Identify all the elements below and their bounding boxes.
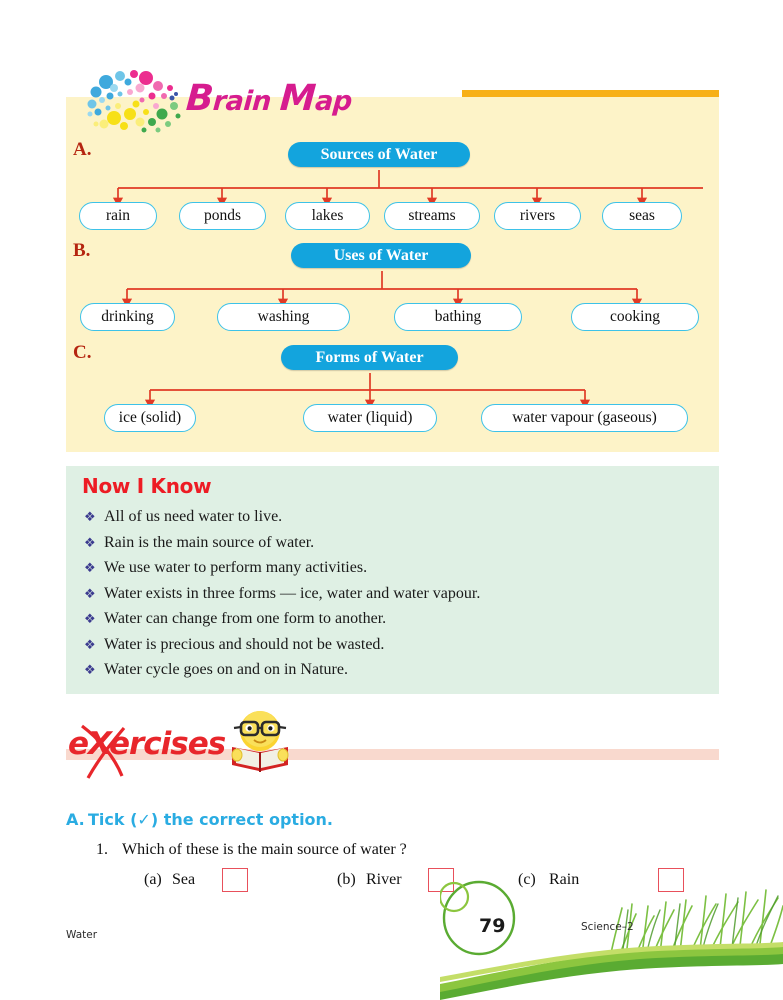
list-item: ❖ Water can change from one form to anot… — [84, 610, 704, 628]
leaf-pill-streams: streams — [384, 202, 480, 230]
diamond-bullet-icon: ❖ — [84, 612, 104, 627]
leaf-pill-water-vapour-gaseous: water vapour (gaseous) — [481, 404, 688, 432]
now-i-know-box: Now I Know ❖ All of us need water to liv… — [66, 466, 719, 694]
leaf-pill-lakes: lakes — [285, 202, 370, 230]
exercise-part-title: Tick (✓) the correct option. — [88, 810, 333, 829]
leaf-pill-bathing: bathing — [394, 303, 522, 331]
diamond-bullet-icon: ❖ — [84, 536, 104, 551]
now-i-know-list: ❖ All of us need water to live. ❖ Rain i… — [84, 508, 704, 687]
brain-dots-icon — [84, 66, 188, 138]
diamond-bullet-icon: ❖ — [84, 510, 104, 525]
page-number: 79 — [479, 915, 505, 937]
grass-wave-decoration — [440, 880, 783, 1000]
leaf-pill-rivers: rivers — [494, 202, 581, 230]
leaf-pill-ponds: ponds — [179, 202, 266, 230]
list-item: ❖ Rain is the main source of water. — [84, 534, 704, 552]
list-item-text: We use water to perform many activities. — [104, 559, 367, 577]
brain-map-title-rain: rain — [212, 86, 281, 117]
diamond-bullet-icon: ❖ — [84, 638, 104, 653]
mascot-reading-book-icon — [228, 707, 292, 773]
section-letter-c: C. — [73, 342, 91, 364]
footer-book-name: Science–2 — [581, 921, 634, 933]
footer-chapter-name: Water — [66, 929, 97, 941]
leaf-pill-water-liquid: water (liquid) — [303, 404, 437, 432]
exercises-x-swash-icon — [68, 722, 228, 780]
list-item: ❖ Water cycle goes on and on in Nature. — [84, 661, 704, 679]
diamond-bullet-icon: ❖ — [84, 663, 104, 678]
list-item-text: Water is precious and should not be wast… — [104, 636, 384, 654]
list-item-text: Water cycle goes on and on in Nature. — [104, 661, 348, 679]
now-i-know-title: Now I Know — [82, 474, 211, 498]
list-item: ❖ All of us need water to live. — [84, 508, 704, 526]
diamond-bullet-icon: ❖ — [84, 561, 104, 576]
option-b-label: River — [366, 871, 402, 889]
brain-map-panel: A. Sources of Water rain ponds lakes str… — [66, 97, 719, 452]
list-item-text: Rain is the main source of water. — [104, 534, 314, 552]
leaf-pill-drinking: drinking — [80, 303, 175, 331]
brain-map-title-b: B — [185, 78, 215, 119]
question-text: Which of these is the main source of wat… — [122, 841, 407, 859]
leaf-pill-rain: rain — [79, 202, 157, 230]
option-b-tag: (b) — [337, 871, 356, 889]
brain-map-title-m: M — [279, 78, 317, 119]
list-item: ❖ We use water to perform many activitie… — [84, 559, 704, 577]
brain-map-title-ap: ap — [314, 86, 353, 117]
leaf-pill-washing: washing — [217, 303, 350, 331]
list-item-text: Water can change from one form to anothe… — [104, 610, 386, 628]
list-item: ❖ Water is precious and should not be wa… — [84, 636, 704, 654]
head-pill-uses-of-water: Uses of Water — [291, 243, 471, 268]
leaf-pill-cooking: cooking — [571, 303, 699, 331]
section-letter-a: A. — [73, 139, 91, 161]
list-item-text: Water exists in three forms — ice, water… — [104, 585, 480, 603]
leaf-pill-seas: seas — [602, 202, 682, 230]
option-a-tag: (a) — [144, 871, 162, 889]
list-item-text: All of us need water to live. — [104, 508, 282, 526]
head-pill-sources-of-water: Sources of Water — [288, 142, 470, 167]
option-a-label: Sea — [172, 871, 195, 889]
head-pill-forms-of-water: Forms of Water — [281, 345, 458, 370]
exercise-part-letter: A. — [66, 810, 85, 829]
brain-map-title: Brain Map — [185, 86, 353, 117]
question-number: 1. — [96, 841, 108, 859]
leaf-pill-ice-solid: ice (solid) — [104, 404, 196, 432]
list-item: ❖ Water exists in three forms — ice, wat… — [84, 585, 704, 603]
option-a-checkbox[interactable] — [222, 868, 248, 892]
diamond-bullet-icon: ❖ — [84, 587, 104, 602]
section-letter-b: B. — [73, 240, 90, 262]
